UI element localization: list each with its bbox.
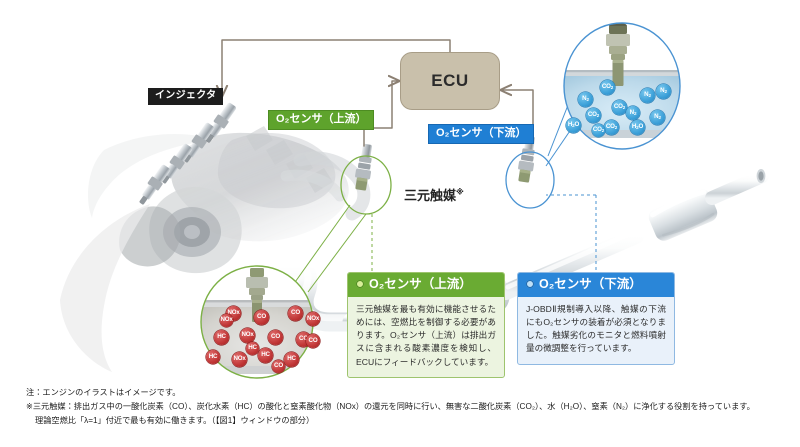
- molecule-chip: H2O: [566, 118, 581, 133]
- molecule-chip: CO2: [600, 80, 615, 95]
- label-o2-sensor-downstream: O₂センサ（下流）: [428, 124, 534, 144]
- footnote-block: 注：エンジンのイラストはイメージです。 ※三元触媒：排出ガス中の一酸化炭素（CO…: [26, 386, 786, 428]
- molecule-chip: CO: [268, 330, 283, 345]
- molecule-chip: CO: [254, 310, 269, 325]
- footnote-line: 注：エンジンのイラストはイメージです。: [26, 386, 786, 400]
- callout-card-upstream: O₂センサ（上流） 三元触媒を最も有効に機能させるためには、空燃比を制御する必要…: [347, 272, 505, 378]
- molecule-chip: HC: [206, 350, 220, 364]
- callout-card-downstream: O₂センサ（下流） J-OBDⅡ規制導入以降、触媒の下流にもO₂センサの装着が必…: [517, 272, 675, 365]
- molecule-chip: CO: [306, 334, 320, 348]
- molecule-chip: N2: [656, 84, 671, 99]
- molecule-chip: N2: [650, 110, 665, 125]
- molecule-chip: CO2: [586, 108, 601, 123]
- catalyst-footnote-mark: ※: [456, 188, 464, 197]
- molecule-chip: H2O: [630, 120, 645, 135]
- footnote-line: 理論空燃比「λ=1」付近で最も有効に働きます。（【図1】ウィンドウの部分）: [26, 414, 786, 428]
- footnote-line: ※三元触媒：排出ガス中の一酸化炭素（CO）、炭化水素（HC）の酸化と窒素酸化物（…: [26, 400, 786, 414]
- molecule-chip: N2: [626, 106, 640, 120]
- sensor-dot-icon: [526, 280, 534, 288]
- molecule-chip: HC: [258, 348, 273, 363]
- molecule-chip: NOx: [306, 312, 320, 326]
- callout-header-downstream: O₂センサ（下流）: [518, 273, 674, 297]
- diagram-canvas: ECU インジェクタ O₂センサ（上流） O₂センサ（下流） 三元触媒※ NOx…: [0, 0, 800, 447]
- callout-body-downstream: J-OBDⅡ規制導入以降、触媒の下流にもO₂センサの装着が必須となりました。触媒…: [518, 297, 674, 364]
- molecule-chip: HC: [246, 342, 259, 355]
- catalyst-text: 三元触媒: [404, 188, 456, 203]
- molecule-chip: CO2: [612, 100, 627, 115]
- molecule-chip: CO: [272, 360, 285, 373]
- label-three-way-catalyst: 三元触媒※: [404, 185, 464, 204]
- callout-header-upstream: O₂センサ（上流）: [348, 273, 504, 297]
- ecu-block: ECU: [400, 52, 500, 110]
- label-o2-sensor-upstream: O₂センサ（上流）: [268, 110, 374, 130]
- molecule-chip: N2: [640, 88, 655, 103]
- callout-title-upstream: O₂センサ（上流）: [369, 278, 472, 291]
- molecule-chip: N2: [578, 92, 593, 107]
- molecule-chip: HC: [284, 352, 299, 367]
- molecule-chip: CO2: [604, 120, 619, 135]
- label-injector: インジェクタ: [148, 88, 223, 105]
- callout-body-upstream: 三元触媒を最も有効に機能させるためには、空燃比を制御する必要があります。O₂セン…: [348, 297, 504, 378]
- molecule-chip: CO: [288, 306, 303, 321]
- molecule-chip: NOx: [240, 328, 255, 343]
- callout-title-downstream: O₂センサ（下流）: [539, 278, 642, 291]
- molecule-chip: CO2: [592, 124, 605, 137]
- molecule-chip: HC: [214, 330, 229, 345]
- molecule-chip: NOx: [232, 352, 247, 367]
- molecule-chip: NOx: [220, 314, 233, 327]
- sensor-dot-icon: [356, 280, 364, 288]
